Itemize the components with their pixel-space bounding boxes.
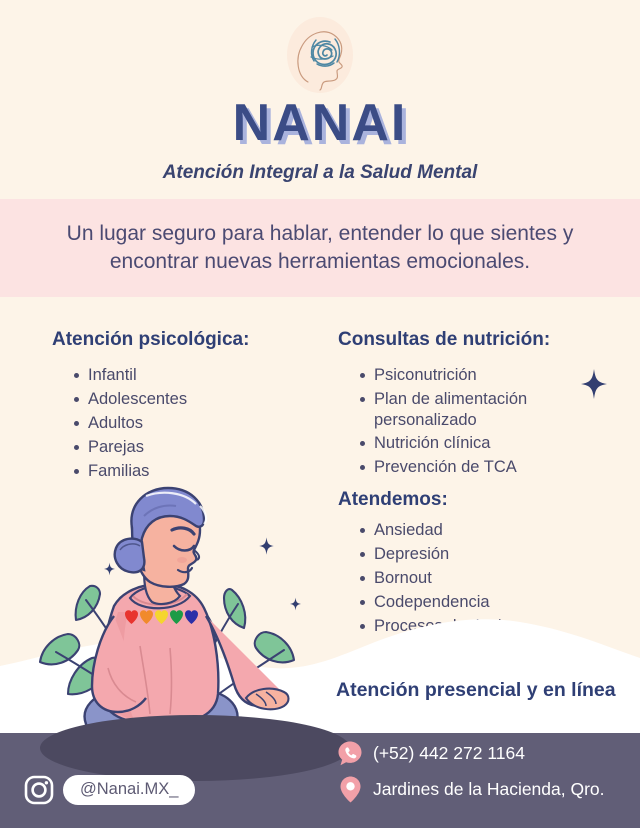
head-with-tangled-mind-icon (283, 14, 357, 96)
list-item: Bornout (360, 568, 613, 590)
header: NANAI Atención Integral a la Salud Menta… (0, 0, 640, 196)
instagram-block[interactable]: @Nanai.MX_ (24, 775, 195, 805)
list-item: Familias (74, 461, 322, 483)
nutrition-list: Psiconutrición Plan de alimentación pers… (338, 365, 613, 479)
instagram-handle: @Nanai.MX_ (63, 775, 195, 804)
figure-shadow (40, 715, 350, 781)
list-item: Plan de alimentación personalizado (360, 389, 613, 431)
map-pin-icon (338, 776, 362, 803)
list-item: Psiconutrición (360, 365, 613, 387)
contact-location[interactable]: Jardines de la Hacienda, Qro. (338, 776, 628, 803)
tagline-line-1: Un lugar seguro para hablar, entender lo… (67, 222, 574, 245)
contact-block: (+52) 442 272 1164 Jardines de la Hacien… (338, 740, 628, 812)
sparkle-star-icon (581, 369, 607, 399)
list-item: Adolescentes (74, 389, 322, 411)
list-item: Infantil (74, 365, 322, 387)
list-item: Parejas (74, 437, 322, 459)
phone-icon (338, 740, 362, 767)
instagram-icon (24, 775, 54, 805)
poster-root: NANAI Atención Integral a la Salud Menta… (0, 0, 640, 828)
tagline-band: Un lugar seguro para hablar, entender lo… (0, 199, 640, 297)
contact-phone[interactable]: (+52) 442 272 1164 (338, 740, 628, 767)
section-psychology-heading: Atención psicológica: (52, 329, 322, 351)
brand-title: NANAI (0, 97, 640, 149)
brand-subtitle: Atención Integral a la Salud Mental (0, 162, 640, 184)
list-item: Prevención de TCA (360, 457, 613, 479)
section-nutrition-heading: Consultas de nutrición: (338, 329, 613, 351)
list-item: Depresión (360, 544, 613, 566)
section-nutrition: Consultas de nutrición: Psiconutrición P… (338, 329, 613, 481)
brand-logo (283, 14, 357, 96)
list-item: Nutrición clínica (360, 433, 613, 455)
modality-text: Atención presencial y en línea (336, 679, 616, 702)
list-item: Adultos (74, 413, 322, 435)
section-psychology: Atención psicológica: Infantil Adolescen… (52, 329, 322, 485)
section-treat-heading: Atendemos: (338, 489, 613, 511)
tagline-text: Un lugar seguro para hablar, entender lo… (31, 220, 610, 275)
psychology-list: Infantil Adolescentes Adultos Parejas Fa… (52, 365, 322, 483)
list-item: Ansiedad (360, 520, 613, 542)
location-value: Jardines de la Hacienda, Qro. (373, 779, 605, 800)
tagline-line-2: encontrar nuevas herramientas emocionale… (110, 250, 530, 273)
phone-value: (+52) 442 272 1164 (373, 743, 525, 764)
